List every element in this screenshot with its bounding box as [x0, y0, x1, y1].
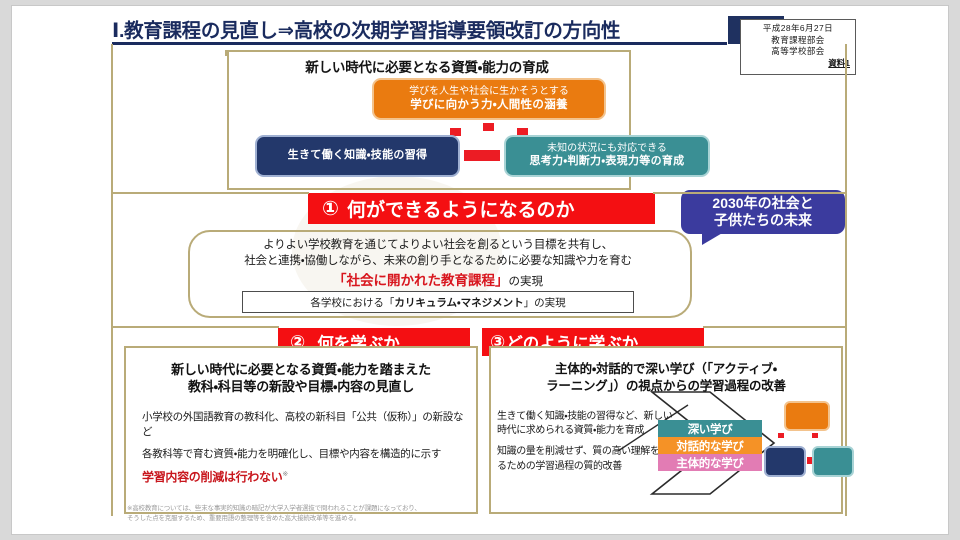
panel-left-heading-line1: 新しい時代に必要となる資質・能力を踏まえた [130, 361, 472, 378]
label-proactive-learning: 主体的な学び [658, 454, 762, 471]
mini-box-navy [764, 446, 806, 477]
red-connector-nub-top [483, 123, 494, 131]
stamp-committee: 教育課程部会 [746, 35, 850, 47]
teal-line2: 思考力・判断力・表現力等の育成 [530, 155, 685, 169]
panel-left-highlight: 学習内容の削減は行わない※ [142, 469, 466, 486]
tan-rule-left-vertical [111, 44, 113, 516]
callout-line1: 2030年の社会と [712, 195, 813, 212]
stamp-date: 平成28年6月27日 [746, 23, 850, 35]
competency-box-teal: 未知の状況にも対応できる 思考力・判断力・表現力等の育成 [504, 135, 710, 177]
mid-line3-bold: 「社会に開かれた教育課程」 [333, 273, 509, 288]
open-curriculum-text: よりよい学校教育を通じてよりよい社会を創るという目標を共有し、 社会と連携・協働… [188, 237, 688, 291]
callout-tail [702, 232, 724, 245]
mid-line3-tail: の実現 [509, 276, 544, 288]
panel-right-heading-line1: 主体的・対話的で深い学び（「アクティブ・ [495, 361, 837, 378]
footnote: ※高校教育については、些末な事実的知識の暗記が大学入学者選抜で問われることが課題… [127, 504, 497, 524]
navy-line2: 生きて働く知識・技能の習得 [288, 149, 428, 163]
page-title: Ⅰ.教育課程の見直し⇒高校の次期学習指導要領改訂の方向性 [108, 14, 728, 43]
curriculum-management-pre: 各学校における「 [310, 295, 394, 310]
tan-rule-left-upper [111, 192, 309, 194]
title-underline [112, 42, 727, 45]
mini-nub-left [778, 433, 784, 438]
panel-left-bullets: 小学校の外国語教育の教科化、高校の新科目「公共（仮称）」の新設など 各教科等で育… [142, 410, 466, 493]
competency-box-orange: 学びを人生や社会に生かそうとする 学びに向かう力・人間性の涵養 [372, 78, 606, 120]
screenshot-canvas: Ⅰ.教育課程の見直し⇒高校の次期学習指導要領改訂の方向性 平成28年6月27日 … [0, 0, 960, 540]
tan-rule-right-upper [653, 192, 847, 194]
tan-rule-left-lower [111, 326, 279, 328]
orange-line2: 学びに向かう力・人間性の涵養 [410, 98, 568, 112]
mini-box-teal [812, 446, 854, 477]
curriculum-management-bold: カリキュラム・マネジメント [394, 297, 523, 309]
banner-what-can-be-done[interactable]: ① 何ができるようになるのか [308, 193, 655, 224]
tan-stub-a [225, 50, 227, 56]
label-deep-learning: 深い学び [658, 420, 762, 437]
learning-labels: 深い学び 対話的な学び 主体的な学び [658, 420, 762, 471]
banner-1-label: 何ができるようになるのか [347, 195, 575, 222]
future-society-callout: 2030年の社会と 子供たちの未来 [681, 190, 845, 234]
red-connector-bar [464, 150, 500, 161]
panel-left-heading: 新しい時代に必要となる資質・能力を踏まえた 教科・科目等の新設や目標・内容の見直… [130, 361, 472, 396]
footnote-line1: ※高校教育については、些末な事実的知識の暗記が大学入学者選抜で問われることが課題… [127, 504, 497, 514]
list-item: 小学校の外国語教育の教科化、高校の新科目「公共（仮称）」の新設など [142, 410, 466, 440]
curriculum-management-post: 」の実現 [524, 295, 566, 310]
label-dialogic-learning: 対話的な学び [658, 437, 762, 454]
mid-line2: 社会と連携・協働しながら、未来の創り手となるために必要な知識や力を育む [188, 253, 688, 269]
orange-line1: 学びを人生や社会に生かそうとする [409, 86, 569, 99]
mid-line1: よりよい学校教育を通じてよりよい社会を創るという目標を共有し、 [188, 237, 688, 253]
stamp-subcommittee: 高等学校部会 [746, 46, 850, 58]
mini-box-orange [784, 401, 830, 431]
teal-line1: 未知の状況にも対応できる [547, 143, 667, 156]
footnote-line2: そうした点を克服するため、重要用語の整理等を含めた高大接続改革等を進める。 [127, 514, 497, 524]
panel-left-heading-line2: 教科・科目等の新設や目標・内容の見直し [130, 378, 472, 395]
callout-line2: 子供たちの未来 [714, 212, 812, 229]
slide-surface: Ⅰ.教育課程の見直し⇒高校の次期学習指導要領改訂の方向性 平成28年6月27日 … [12, 6, 948, 534]
banner-1-number: ① [322, 196, 339, 221]
page-title-text: Ⅰ.教育課程の見直し⇒高校の次期学習指導要領改訂の方向性 [108, 14, 728, 43]
tan-rule-right-lower [703, 326, 847, 328]
list-item: 各教科等で育む資質・能力を明確化し、目標や内容を構造的に示す [142, 447, 466, 462]
mini-nub-right [812, 433, 818, 438]
curriculum-management-box: 各学校における「カリキュラム・マネジメント」の実現 [242, 291, 634, 313]
competency-box-navy: 生きて働く知識・技能の習得 [255, 135, 460, 177]
document-stamp: 平成28年6月27日 教育課程部会 高等学校部会 資料1 [740, 19, 856, 75]
stamp-document-number: 資料1 [746, 58, 850, 70]
mid-line3: 「社会に開かれた教育課程」の実現 [188, 271, 688, 291]
competency-heading: 新しい時代に必要となる資質・能力の育成 [227, 56, 627, 76]
